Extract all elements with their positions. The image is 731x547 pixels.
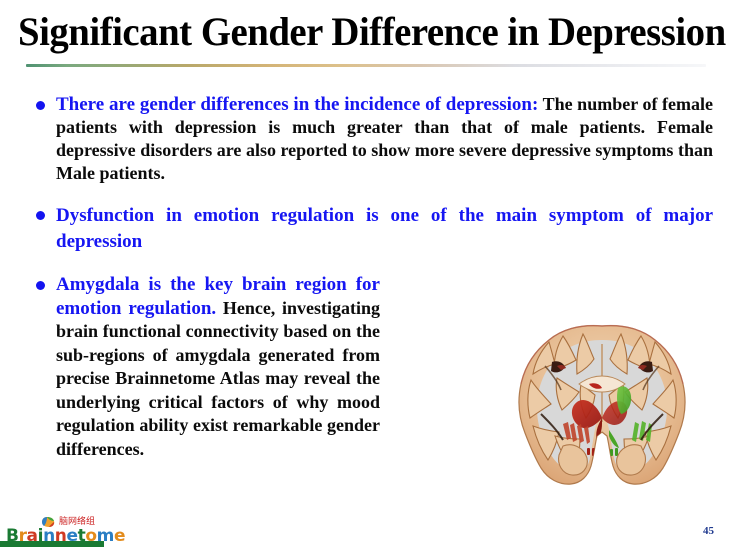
- bullet-dot-icon: [36, 211, 45, 220]
- slide-canvas: Significant Gender Difference in Depress…: [0, 0, 731, 547]
- bullet-item-gender-differences: There are gender differences in the inci…: [0, 93, 731, 185]
- slide-title: Significant Gender Difference in Depress…: [18, 8, 697, 56]
- brain-coronal-slice-figure: [505, 318, 700, 498]
- bullet-item-emotion-regulation-dysfunction: Dysfunction in emotion regulation is one…: [0, 203, 731, 255]
- bullet-lead-text: There are gender differences in the inci…: [56, 94, 538, 115]
- title-divider-rule: [26, 64, 706, 67]
- bullet-lead-text: Dysfunction in emotion regulation is one…: [56, 203, 713, 255]
- bullet-dot-icon: [36, 281, 45, 290]
- footer-accent-bar: [0, 541, 104, 547]
- bullet-item-amygdala-key-region: Amygdala is the key brain region for emo…: [0, 273, 398, 461]
- bullet-paragraph: There are gender differences in the inci…: [56, 93, 713, 185]
- bullet-body-text: Hence, investigating brain functional co…: [56, 298, 380, 459]
- bullet-dot-icon: [36, 101, 45, 110]
- page-number: 45: [703, 524, 714, 538]
- bullet-paragraph: Amygdala is the key brain region for emo…: [56, 273, 380, 461]
- brain-coronal-slice-icon: [505, 318, 700, 498]
